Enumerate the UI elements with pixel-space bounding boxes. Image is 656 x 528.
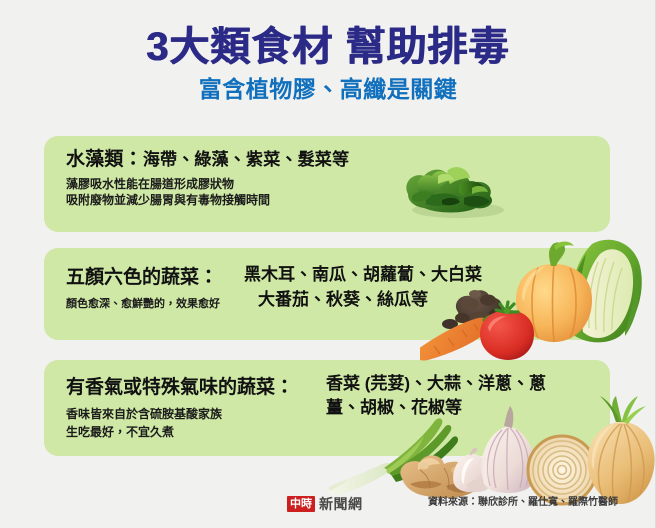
card-colorful-vegetables-items-line2: 大番茄、秋葵、絲瓜等	[244, 287, 482, 312]
card-seaweed-note-line1: 藻膠吸水性能在腸道形成膠狀物	[66, 176, 349, 192]
card-aromatic-vegetables-items-line1: 香菜 (芫荽)、大蒜、洋蔥、蔥	[326, 372, 546, 396]
card-seaweed-text: 水藻類：海帶、綠藻、紫菜、髮菜等 藻膠吸水性能在腸道形成膠狀物 吸附廢物並減少腸…	[66, 148, 349, 208]
card-seaweed-category: 水藻類：	[66, 149, 143, 170]
card-colorful-vegetables: 五顏六色的蔬菜： 顏色愈深、愈鮮艷的，效果愈好 黑木耳、南瓜、胡蘿蔔、大白菜 大…	[44, 248, 610, 340]
card-aromatic-vegetables-items-line2: 薑、胡椒、花椒等	[326, 396, 546, 420]
header: 3大類食材 幫助排毒 富含植物膠、高纖是關鍵	[0, 24, 656, 103]
card-seaweed-note-line2: 吸附廢物並減少腸胃與有毒物接觸時間	[66, 192, 349, 208]
footer: 中時 新聞網 資料來源：聯欣診所、羅仕寬、羅際竹醫師	[0, 494, 656, 516]
page-title: 3大類食材 幫助排毒	[0, 24, 656, 70]
page-subtitle: 富含植物膠、高纖是關鍵	[0, 76, 656, 103]
card-aromatic-vegetables-category: 有香氣或特殊氣味的蔬菜：	[66, 372, 326, 399]
card-aromatic-vegetables-text: 有香氣或特殊氣味的蔬菜： 香味皆來自於含硫胺基酸家族 生吃最好，不宜久煮 香菜 …	[66, 372, 546, 441]
source-attribution: 資料來源：聯欣診所、羅仕寬、羅際竹醫師	[428, 496, 618, 510]
card-colorful-vegetables-category: 五顏六色的蔬菜：	[66, 262, 244, 289]
card-seaweed-items: 海帶、綠藻、紫菜、髮菜等	[143, 150, 349, 169]
card-aromatic-vegetables-note-line1: 香味皆來自於含硫胺基酸家族	[66, 406, 326, 423]
logo-word: 新聞網	[319, 494, 363, 514]
card-seaweed: 水藻類：海帶、綠藻、紫菜、髮菜等 藻膠吸水性能在腸道形成膠狀物 吸附廢物並減少腸…	[44, 136, 610, 232]
chinatimes-logo[interactable]: 中時 新聞網	[287, 494, 363, 514]
card-aromatic-vegetables: 有香氣或特殊氣味的蔬菜： 香味皆來自於含硫胺基酸家族 生吃最好，不宜久煮 香菜 …	[44, 360, 610, 456]
card-colorful-vegetables-text: 五顏六色的蔬菜： 顏色愈深、愈鮮艷的，效果愈好 黑木耳、南瓜、胡蘿蔔、大白菜 大…	[66, 262, 482, 312]
card-colorful-vegetables-items-line1: 黑木耳、南瓜、胡蘿蔔、大白菜	[244, 262, 482, 287]
card-colorful-vegetables-note: 顏色愈深、愈鮮艷的，效果愈好	[66, 295, 244, 311]
logo-badge: 中時	[287, 496, 315, 512]
card-aromatic-vegetables-note-line2: 生吃最好，不宜久煮	[66, 424, 326, 441]
infographic-poster: 3大類食材 幫助排毒 富含植物膠、高纖是關鍵 水藻類：海帶、綠藻、紫菜、髮菜等 …	[0, 0, 656, 528]
card-seaweed-heading: 水藻類：海帶、綠藻、紫菜、髮菜等	[66, 148, 349, 171]
